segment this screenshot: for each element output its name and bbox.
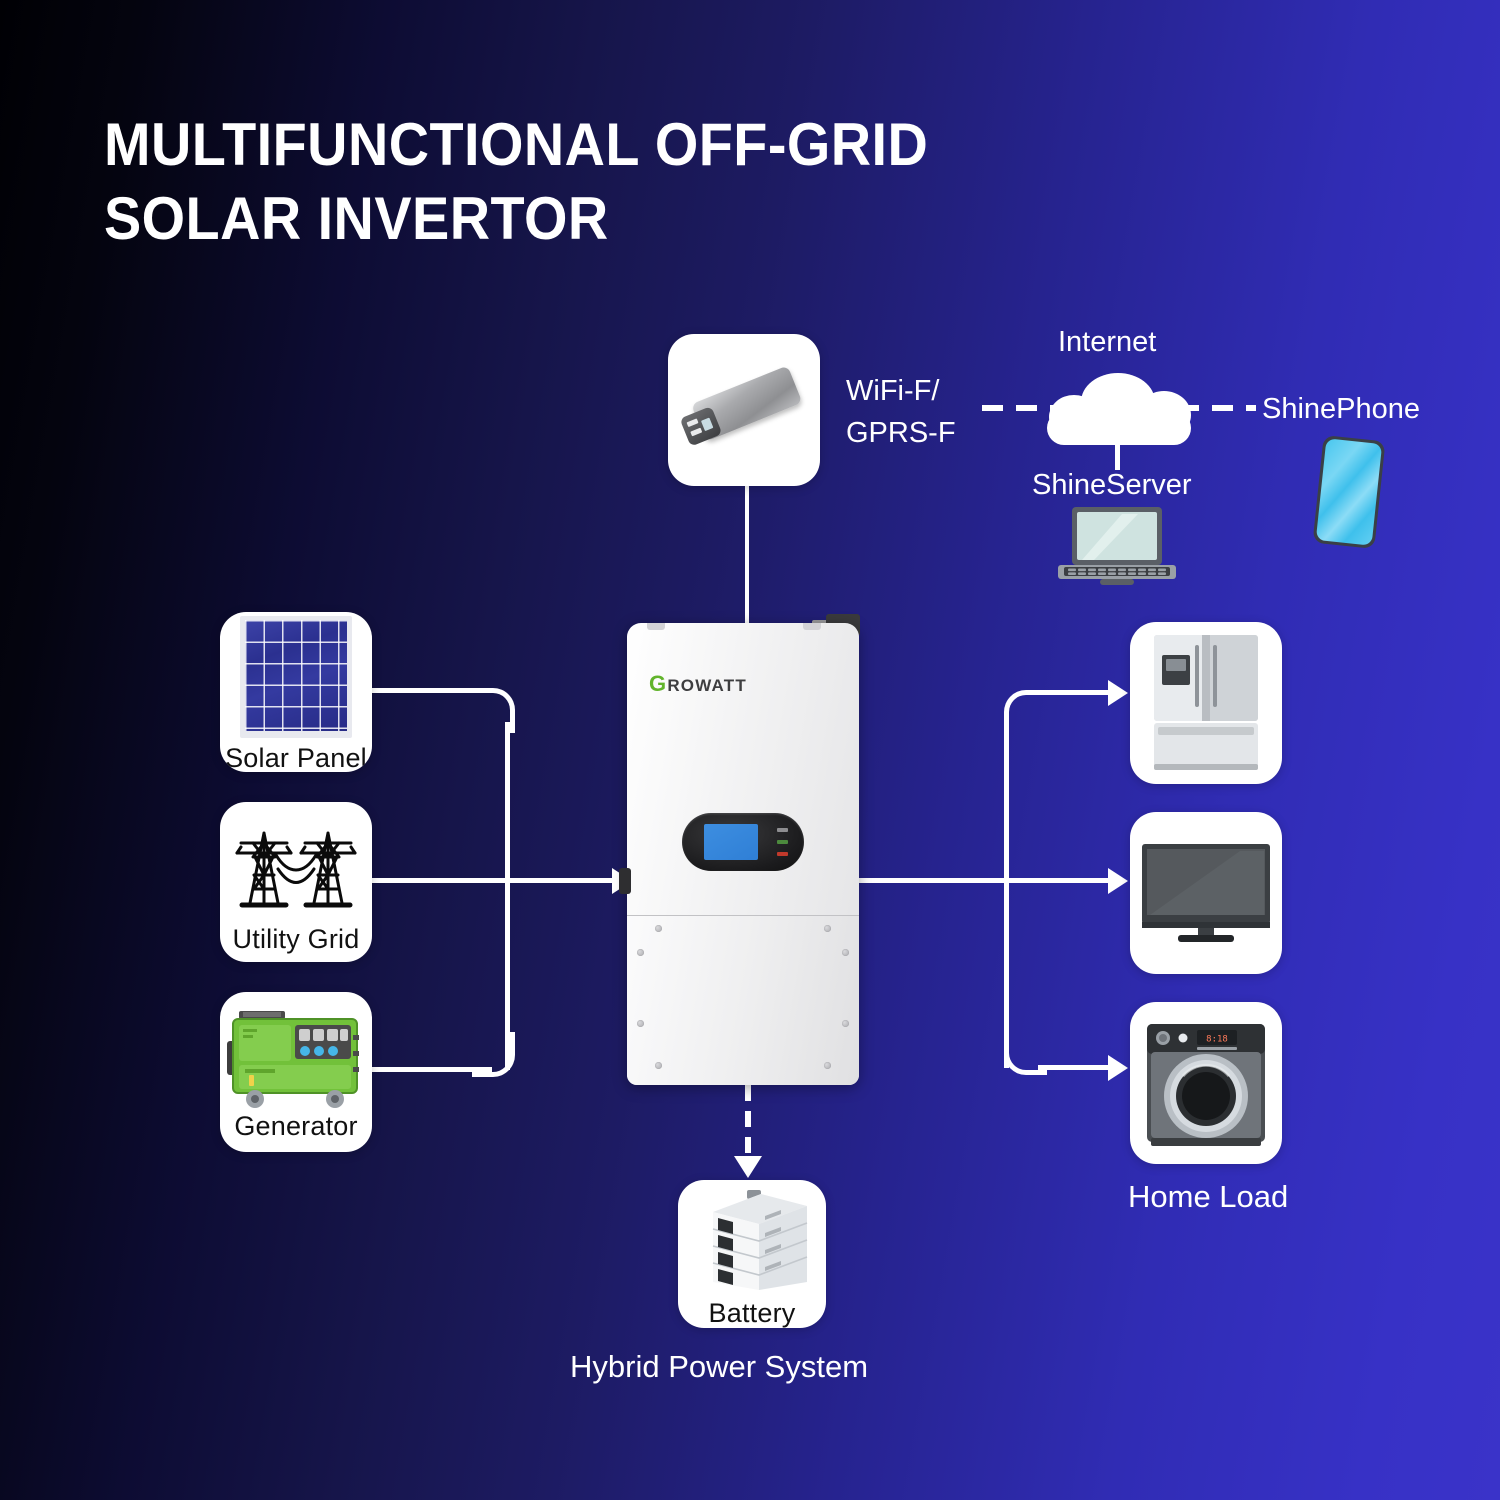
brand-rest: ROWATT [667, 676, 747, 695]
connector-inverter-out [858, 878, 1108, 883]
status-led-red [777, 852, 788, 856]
label-shinephone: ShinePhone [1262, 392, 1420, 427]
transmission-tower-icon [228, 813, 364, 925]
inverter-unit[interactable]: GROWATT [627, 623, 859, 1085]
smartphone-icon [1313, 435, 1386, 549]
status-led-grey [777, 828, 788, 832]
label-home-load: Home Load [1128, 1178, 1288, 1215]
inverter-notch-left [647, 623, 665, 630]
source-label-utility-grid: Utility Grid [233, 926, 360, 953]
screw [655, 1062, 662, 1069]
screw [824, 925, 831, 932]
connector-grid-horizontal [372, 878, 622, 883]
screw [637, 1020, 644, 1027]
inverter-display-bezel[interactable] [682, 813, 804, 871]
refrigerator-icon [1148, 633, 1264, 773]
arrow-into-television [1108, 868, 1128, 894]
communication-card-dongle[interactable] [668, 334, 820, 486]
diagram-canvas: MULTIFUNCTIONAL OFF-GRID SOLAR INVERTOR … [0, 0, 1500, 1500]
load-card-refrigerator[interactable] [1130, 622, 1282, 784]
solar-panel-icon [240, 616, 352, 738]
source-card-utility-grid[interactable]: Utility Grid [220, 802, 372, 962]
screw [637, 949, 644, 956]
arrow-into-washing-machine [1108, 1055, 1128, 1081]
laptop-icon [1052, 505, 1182, 587]
generator-icon [223, 1005, 369, 1113]
label-shineserver: ShineServer [1032, 468, 1192, 503]
load-card-television[interactable] [1130, 812, 1282, 974]
connector-load-bottom-horizontal [1038, 1065, 1116, 1070]
connector-left-bus [505, 722, 510, 1070]
arrow-into-refrigerator [1108, 680, 1128, 706]
inverter-lcd-screen [704, 824, 758, 860]
television-icon [1140, 838, 1272, 948]
label-internet: Internet [1058, 325, 1156, 360]
connector-load-top-corner [1004, 690, 1047, 735]
connector-generator-horizontal [372, 1067, 492, 1072]
svg-text:8:18: 8:18 [1206, 1035, 1228, 1045]
washing-machine-icon: 8:18 [1143, 1016, 1269, 1150]
source-card-solar-panel[interactable]: Solar Panel [220, 612, 372, 772]
connector-dongle-to-inverter [745, 480, 749, 628]
connector-right-bus [1004, 718, 1009, 1068]
source-label-solar-panel: Solar Panel [225, 745, 367, 772]
cloud-icon [1043, 373, 1195, 445]
screw [655, 925, 662, 932]
stacked-battery-icon [689, 1186, 815, 1298]
status-led-green [777, 840, 788, 844]
inverter-lower-panel [627, 916, 859, 1085]
page-title: MULTIFUNCTIONAL OFF-GRID SOLAR INVERTOR [104, 108, 1034, 257]
label-hybrid-power-system: Hybrid Power System [570, 1348, 868, 1385]
usb-dongle-icon [672, 352, 817, 468]
connector-inverter-to-battery [745, 1085, 751, 1163]
source-card-generator[interactable]: Generator [220, 992, 372, 1152]
screw [842, 949, 849, 956]
load-card-washing-machine[interactable]: 8:18 [1130, 1002, 1282, 1164]
inverter-side-port [619, 868, 631, 894]
screw [842, 1020, 849, 1027]
label-dongle: WiFi-F/ GPRS-F [846, 370, 956, 454]
storage-card-battery[interactable]: Battery [678, 1180, 826, 1328]
screw [824, 1062, 831, 1069]
inverter-brand-logo: GROWATT [649, 671, 747, 697]
brand-initial: G [649, 671, 667, 696]
inverter-notch-right [803, 623, 821, 630]
arrow-into-battery [734, 1156, 762, 1178]
storage-label-battery: Battery [709, 1300, 796, 1327]
connector-load-top-horizontal [1038, 690, 1116, 695]
source-label-generator: Generator [234, 1113, 357, 1140]
